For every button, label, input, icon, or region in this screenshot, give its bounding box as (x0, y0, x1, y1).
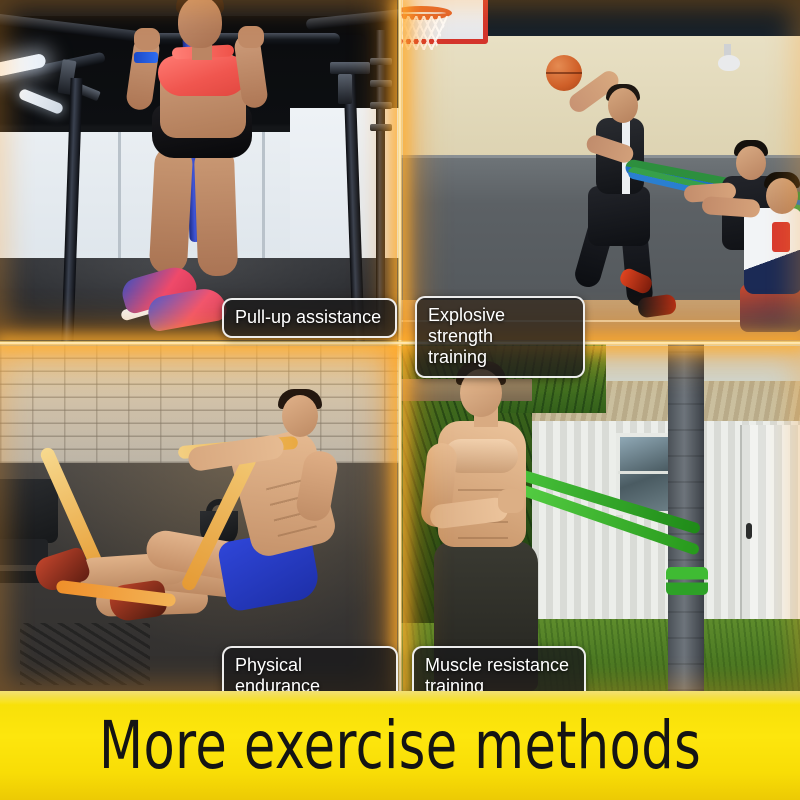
security-camera-icon (718, 55, 740, 71)
headline-text: More exercise methods (99, 713, 701, 779)
panel-bottom-right[interactable] (400, 343, 800, 691)
panel-top-right[interactable] (400, 0, 800, 343)
scene-basketball-jump (400, 0, 800, 343)
caption-explosive-strength-training: Explosive strength training (415, 296, 585, 378)
banner-sheen (0, 691, 800, 705)
image-collage-grid (0, 0, 800, 691)
scene-outdoor-row-pole (400, 343, 800, 691)
caption-pull-up-assistance: Pull-up assistance (222, 298, 397, 338)
headline-banner: More exercise methods (0, 691, 800, 800)
scene-gym-pullup (0, 0, 400, 343)
panel-bottom-left[interactable] (0, 343, 400, 691)
panel-top-left[interactable] (0, 0, 400, 343)
product-poster: Pull-up assistance Explosive strength tr… (0, 0, 800, 800)
scene-seated-row-brick (0, 343, 400, 691)
divider-horizontal-glow (0, 340, 800, 346)
